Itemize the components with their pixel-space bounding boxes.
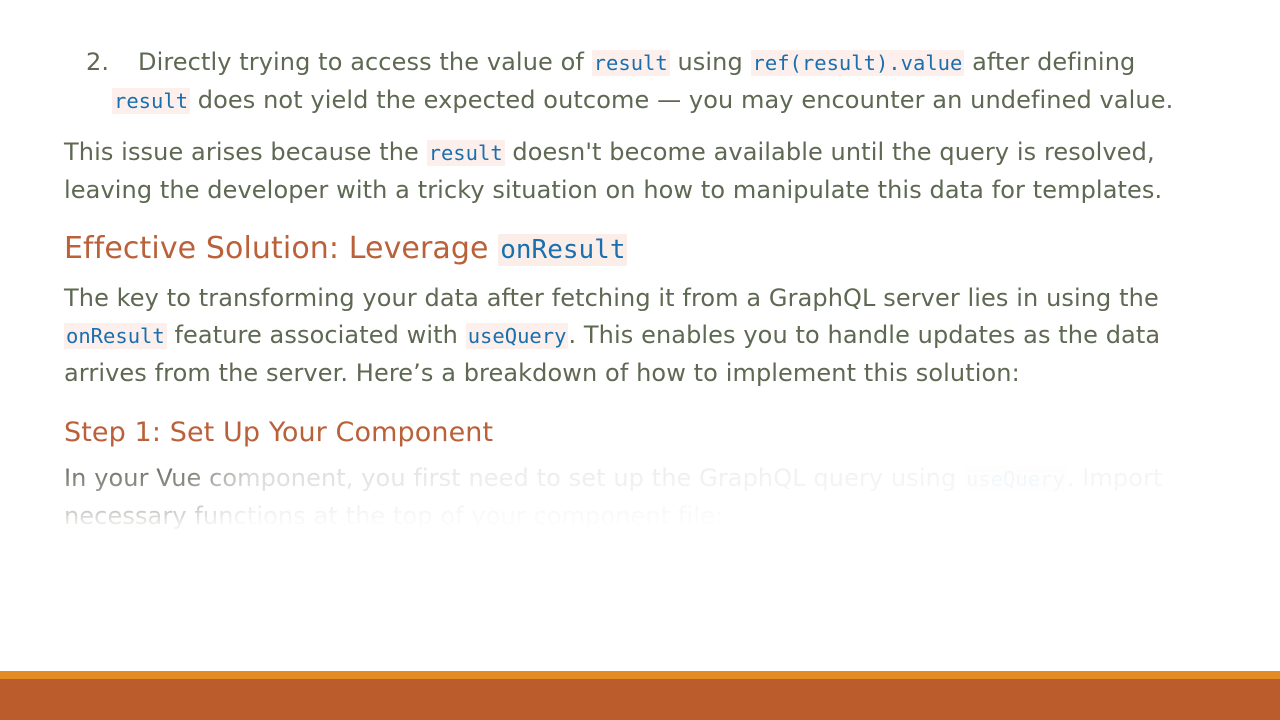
- slide-content: 2.Directly trying to access the value of…: [64, 44, 1216, 538]
- list-item-marker: 2.: [86, 44, 109, 81]
- heading-effective-solution: Effective Solution: Leverage onResult: [64, 229, 1216, 270]
- ordered-list: 2.Directly trying to access the value of…: [64, 44, 1216, 120]
- inline-code-onresult: onResult: [64, 323, 167, 349]
- list-item-text-part3: after defining: [964, 48, 1135, 76]
- paragraph-step1-fade-container: In your Vue component, you first need to…: [64, 460, 1216, 538]
- inline-code-onresult-heading: onResult: [498, 234, 627, 266]
- paragraph-key-part2: feature associated with: [167, 321, 466, 349]
- paragraph-step1: In your Vue component, you first need to…: [64, 460, 1216, 535]
- inline-code-usequery-2: useQuery: [964, 466, 1067, 492]
- paragraph-key-solution: The key to transforming your data after …: [64, 280, 1216, 392]
- list-item-text-part1: Directly trying to access the value of: [138, 48, 592, 76]
- paragraph-step1-part1: In your Vue component, you first need to…: [64, 464, 964, 492]
- list-item-text-part2: using: [670, 48, 751, 76]
- inline-code-result-3: result: [427, 140, 505, 166]
- inline-code-result-2: result: [112, 88, 190, 114]
- paragraph-issue: This issue arises because the result doe…: [64, 134, 1216, 209]
- list-item-text-part4: does not yield the expected outcome — yo…: [190, 86, 1173, 114]
- heading-effective-solution-text: Effective Solution: Leverage: [64, 231, 498, 266]
- inline-code-result-1: result: [592, 50, 670, 76]
- paragraph-issue-part1: This issue arises because the: [64, 138, 427, 166]
- inline-code-usequery-1: useQuery: [466, 323, 569, 349]
- inline-code-ref-result-value: ref(result).value: [751, 50, 965, 76]
- footer-accent-strip: [0, 671, 1280, 679]
- footer-bar: slide 3 of 6: [0, 679, 1280, 720]
- heading-step-1: Step 1: Set Up Your Component: [64, 414, 1216, 452]
- slide-canvas: 2.Directly trying to access the value of…: [0, 0, 1280, 720]
- paragraph-key-part1: The key to transforming your data after …: [64, 284, 1159, 312]
- list-item: 2.Directly trying to access the value of…: [64, 44, 1216, 120]
